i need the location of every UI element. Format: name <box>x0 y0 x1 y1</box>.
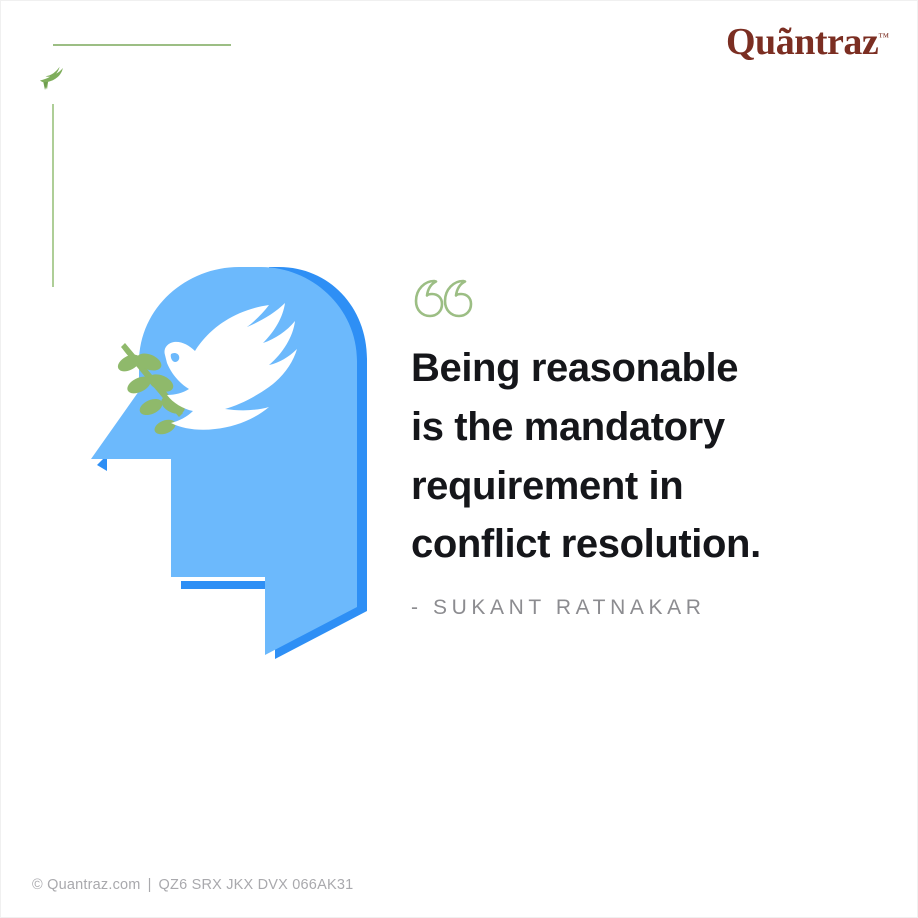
head-profile-with-dove-illustration <box>79 259 389 671</box>
horizontal-rule-decoration <box>53 44 231 46</box>
footer-separator: | <box>141 877 159 893</box>
quote-text: Being reasonable is the mandatory requir… <box>411 339 861 574</box>
brand-name: Quãntraz <box>726 21 878 63</box>
trademark-symbol: ™ <box>878 31 889 43</box>
bird-icon <box>36 63 68 93</box>
footer-copyright: © Quantraz.com <box>32 877 141 893</box>
quote-block: Being reasonable is the mandatory requir… <box>411 275 861 620</box>
footer: © Quantraz.com|QZ6 SRX JKX DVX 066AK31 <box>32 877 353 893</box>
brand-logo: Quãntraz™ <box>726 23 889 61</box>
quote-mark-icon <box>411 275 473 321</box>
footer-code: QZ6 SRX JKX DVX 066AK31 <box>159 877 354 893</box>
quote-card: Quãntraz™ <box>0 0 918 918</box>
quote-author: - SUKANT RATNAKAR <box>411 596 861 620</box>
vertical-rule-decoration <box>52 104 54 287</box>
